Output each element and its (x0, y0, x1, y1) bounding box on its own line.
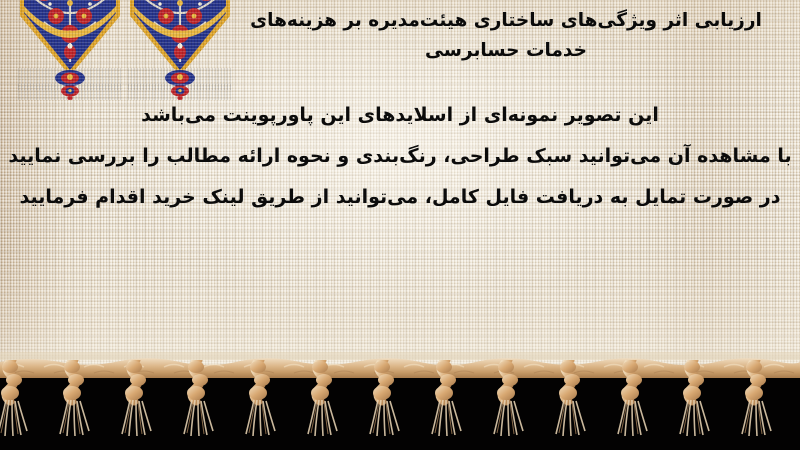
fringe-tassel (488, 360, 534, 450)
fringe-tassel (54, 360, 100, 450)
slide-text-layer: ارزیابی اثر ویژگی‌های ساختاری هیئت‌مدیره… (0, 0, 800, 372)
fringe-tassel (364, 360, 410, 450)
fringe-tassel (426, 360, 472, 450)
fringe-tassel (736, 360, 782, 450)
fringe-tassel (674, 360, 720, 450)
body-line-2: با مشاهده آن می‌توانید سبک طراحی، رنگ‌بن… (6, 147, 794, 167)
fringe-tassel (240, 360, 286, 450)
slide-title: ارزیابی اثر ویژگی‌های ساختاری هیئت‌مدیره… (226, 6, 786, 66)
body-line-1: این تصویر نمونه‌ای از اسلایدهای این پاور… (6, 106, 794, 126)
fringe-tassel (302, 360, 348, 450)
fringe-tassel (178, 360, 224, 450)
presentation-slide: ارزیابی اثر ویژگی‌های ساختاری هیئت‌مدیره… (0, 0, 800, 450)
fringe-tassel (612, 360, 658, 450)
fringe-tassel (116, 360, 162, 450)
body-line-3: در صورت تمایل به دریافت فایل کامل، می‌تو… (6, 188, 794, 208)
fringe-tassel (0, 360, 38, 450)
fringe-tassel (550, 360, 596, 450)
slide-body: این تصویر نمونه‌ای از اسلایدهای این پاور… (6, 106, 794, 208)
